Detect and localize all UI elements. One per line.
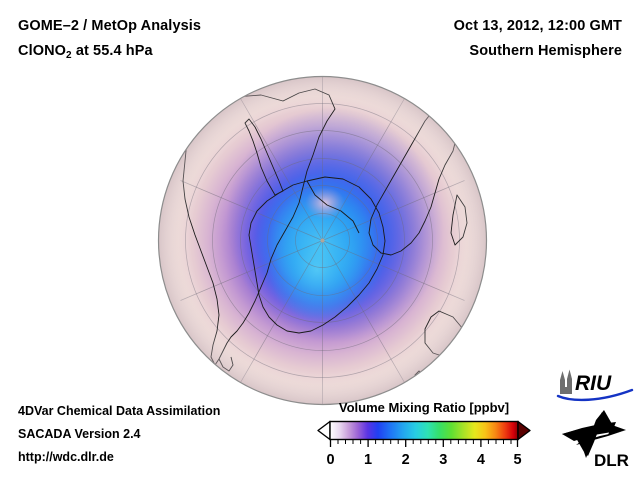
footer-text: 4DVar Chemical Data Assimilation SACADA … xyxy=(18,400,220,469)
species-label: ClONO xyxy=(18,43,66,59)
dlr-wordmark: DLR xyxy=(594,451,629,470)
colorbar-title: Volume Mixing Ratio [ppbv] xyxy=(310,400,538,416)
header-left: GOME–2 / MetOp Analysis ClONO2 at 55.4 h… xyxy=(18,14,201,68)
colorbar-high-cap xyxy=(518,422,530,440)
header-right: Oct 13, 2012, 12:00 GMT Southern Hemisph… xyxy=(454,14,622,64)
species-level-title: ClONO2 at 55.4 hPa xyxy=(18,39,201,68)
map-field xyxy=(159,77,487,405)
colorbar-tick-label: 3 xyxy=(439,452,447,468)
colorbar-ticks xyxy=(331,440,518,447)
hemisphere-label: Southern Hemisphere xyxy=(454,39,622,64)
riu-wordmark: RIU xyxy=(575,372,612,395)
orthographic-projection xyxy=(157,75,488,406)
south-pole-marker xyxy=(321,239,325,243)
colorbar-scale: 0 1 2 3 4 5 xyxy=(310,420,538,472)
data-centre-url[interactable]: http://wdc.dlr.de xyxy=(18,446,220,469)
colorbar-tick-label: 5 xyxy=(513,452,521,468)
instrument-title: GOME–2 / MetOp Analysis xyxy=(18,14,201,39)
colorbar-low-cap xyxy=(318,422,330,440)
dlr-logo: DLR xyxy=(560,408,634,470)
pressure-level-label: at 55.4 hPa xyxy=(72,43,153,59)
colorbar-tick-label: 1 xyxy=(364,452,372,468)
colorbar-tick-label: 2 xyxy=(402,452,410,468)
colorbar-tick-label: 4 xyxy=(477,452,485,468)
colorbar: Volume Mixing Ratio [ppbv] xyxy=(310,400,538,472)
method-label: 4DVar Chemical Data Assimilation xyxy=(18,400,220,423)
colorbar-tick-label: 0 xyxy=(326,452,334,468)
riu-logo: RIU xyxy=(556,368,634,402)
colorbar-tick-labels: 0 1 2 3 4 5 xyxy=(326,452,521,468)
timestamp-label: Oct 13, 2012, 12:00 GMT xyxy=(454,14,622,39)
colorbar-gradient xyxy=(330,422,518,440)
cathedral-spires-icon xyxy=(560,370,572,395)
riu-logo-graphic: RIU xyxy=(556,368,634,402)
figure-canvas: GOME–2 / MetOp Analysis ClONO2 at 55.4 h… xyxy=(0,0,640,480)
globe-map xyxy=(157,75,488,406)
version-label: SACADA Version 2.4 xyxy=(18,423,220,446)
dlr-logo-graphic: DLR xyxy=(560,408,634,470)
